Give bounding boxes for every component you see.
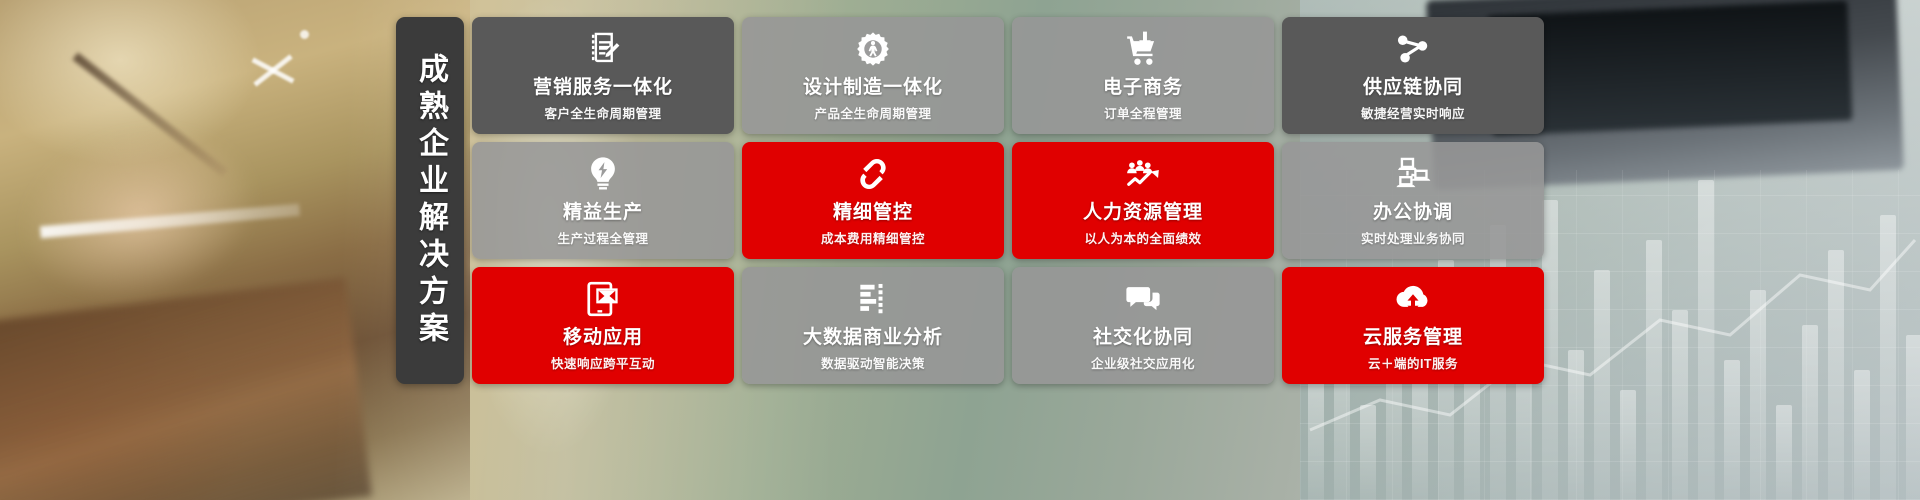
connected-computers-icon <box>1393 154 1433 194</box>
solution-card[interactable]: 设计制造一体化产品全生命周期管理 <box>742 17 1004 134</box>
card-subtitle: 产品全生命周期管理 <box>814 103 931 122</box>
solution-card[interactable]: 电子商务订单全程管理 <box>1012 17 1274 134</box>
card-subtitle: 企业级社交应用化 <box>1091 353 1195 372</box>
lightbulb-bolt-icon <box>583 154 623 194</box>
people-growth-icon <box>1123 154 1163 194</box>
page-title: 成熟企业解决方案 <box>415 53 445 349</box>
card-subtitle: 数据驱动智能决策 <box>821 353 925 372</box>
card-title: 精细管控 <box>833 202 913 224</box>
card-title: 精益生产 <box>563 202 643 224</box>
card-title: 人力资源管理 <box>1083 202 1203 224</box>
solution-card[interactable]: 精益生产生产过程全管理 <box>472 142 734 259</box>
card-subtitle: 以人为本的全面绩效 <box>1084 228 1201 247</box>
shopping-cart-icon <box>1123 29 1163 69</box>
card-subtitle: 订单全程管理 <box>1104 103 1182 122</box>
card-subtitle: 实时处理业务协同 <box>1361 228 1465 247</box>
solutions-panel: 成熟企业解决方案 营销服务一体化客户全生命周期管理设计制造一体化产品全生命周期管… <box>396 17 1544 384</box>
panel-title-bar: 成熟企业解决方案 <box>396 17 464 384</box>
card-subtitle: 云＋端的IT服务 <box>1368 353 1458 372</box>
card-title: 云服务管理 <box>1363 327 1463 349</box>
card-subtitle: 快速响应跨平互动 <box>551 353 655 372</box>
card-subtitle: 生产过程全管理 <box>557 228 648 247</box>
data-bars-icon <box>853 279 893 319</box>
card-title: 电子商务 <box>1103 77 1183 99</box>
solution-card[interactable]: 云服务管理云＋端的IT服务 <box>1282 267 1544 384</box>
card-subtitle: 敏捷经营实时响应 <box>1361 103 1465 122</box>
solution-card[interactable]: 社交化协同企业级社交应用化 <box>1012 267 1274 384</box>
gear-person-icon <box>853 29 893 69</box>
notebook-pen-icon <box>583 29 623 69</box>
card-title: 移动应用 <box>563 327 643 349</box>
card-subtitle: 客户全生命周期管理 <box>544 103 661 122</box>
solution-card[interactable]: 供应链协同敏捷经营实时响应 <box>1282 17 1544 134</box>
solution-card[interactable]: 人力资源管理以人为本的全面绩效 <box>1012 142 1274 259</box>
solution-card[interactable]: 精细管控成本费用精细管控 <box>742 142 1004 259</box>
solution-card[interactable]: 大数据商业分析数据驱动智能决策 <box>742 267 1004 384</box>
card-title: 大数据商业分析 <box>803 327 943 349</box>
mobile-device-icon <box>583 279 623 319</box>
solution-cards-grid: 营销服务一体化客户全生命周期管理设计制造一体化产品全生命周期管理电子商务订单全程… <box>472 17 1544 384</box>
card-title: 社交化协同 <box>1093 327 1193 349</box>
cloud-upload-icon <box>1393 279 1433 319</box>
solution-card[interactable]: 营销服务一体化客户全生命周期管理 <box>472 17 734 134</box>
card-title: 供应链协同 <box>1363 77 1463 99</box>
chain-link-icon <box>853 154 893 194</box>
solution-card[interactable]: 办公协调实时处理业务协同 <box>1282 142 1544 259</box>
card-subtitle: 成本费用精细管控 <box>821 228 925 247</box>
card-title: 营销服务一体化 <box>533 77 673 99</box>
card-title: 设计制造一体化 <box>803 77 943 99</box>
network-nodes-icon <box>1393 29 1433 69</box>
solution-card[interactable]: 移动应用快速响应跨平互动 <box>472 267 734 384</box>
card-title: 办公协调 <box>1373 202 1453 224</box>
chat-bubbles-icon <box>1123 279 1163 319</box>
